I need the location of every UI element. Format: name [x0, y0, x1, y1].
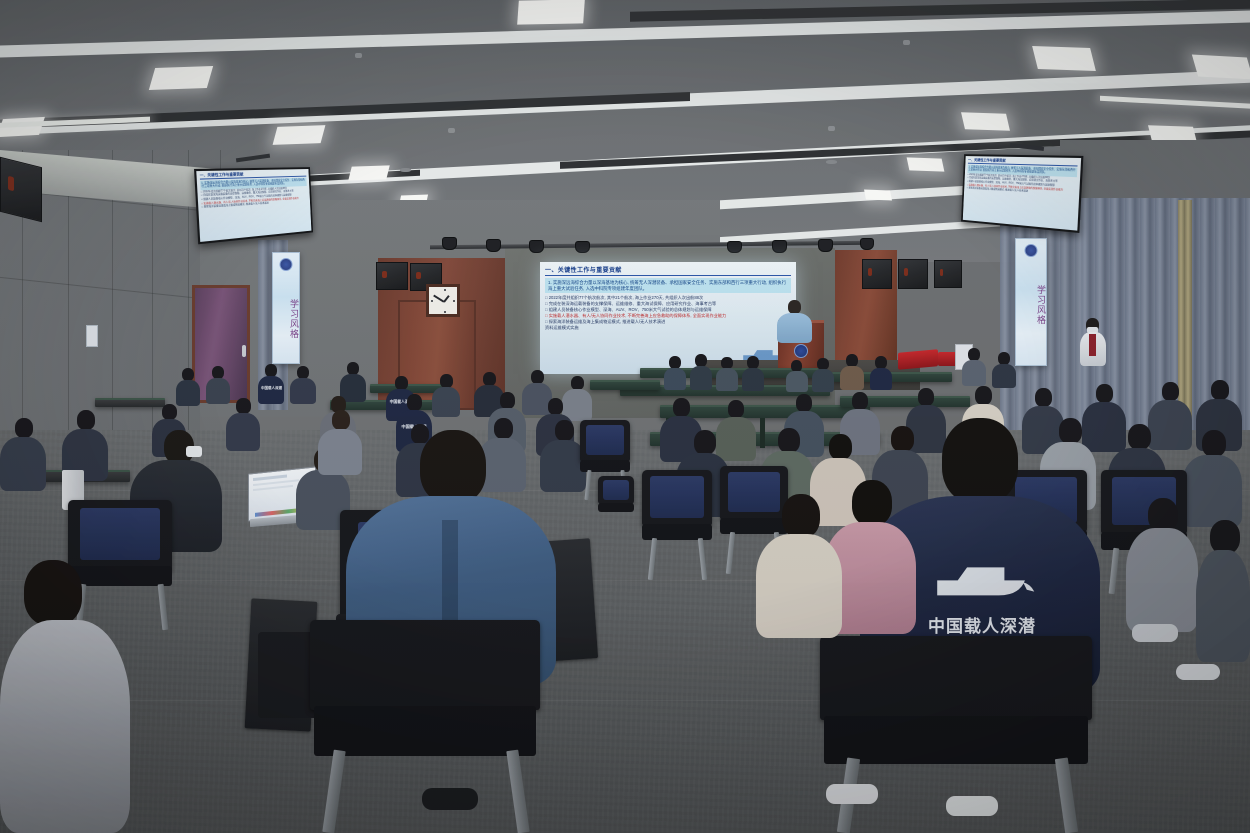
- chair[interactable]: [638, 470, 716, 580]
- left-wall-monitor: 一、关键性工作与重要贡献 1. 实施深远海综合力量以深海基地为核心, 统筹无人深…: [194, 167, 313, 244]
- attendee: [176, 368, 200, 404]
- face-mask: [186, 446, 202, 457]
- stage-light-icon: [529, 240, 544, 253]
- attendee: [840, 354, 864, 388]
- stage-light-icon: [818, 239, 833, 252]
- stage-light-icon: [772, 240, 787, 253]
- attendee: [432, 374, 460, 416]
- red-display-item: [898, 349, 938, 369]
- pa-speaker: [0, 157, 42, 222]
- attendee: [992, 352, 1016, 386]
- pa-speaker: [934, 260, 962, 288]
- attendee: [786, 360, 808, 390]
- banner-left-emblem-icon: [280, 258, 293, 271]
- stage-light-icon: [442, 237, 457, 250]
- right-wall-monitor: 一、关键性工作与重要贡献 1. 实施深远海综合力量以深海基地为核心, 统筹无人深…: [961, 154, 1083, 233]
- attendee: [0, 418, 46, 490]
- chair[interactable]: [596, 476, 636, 536]
- banner-right-emblem-icon: [1025, 244, 1038, 257]
- standing-attendee: [1080, 318, 1106, 378]
- attendee: [226, 398, 260, 450]
- foreground-attendee-left-edge: [0, 560, 130, 833]
- pa-speaker: [898, 259, 928, 289]
- attendee: [742, 356, 764, 389]
- attendee: [1126, 498, 1198, 628]
- attendee: [206, 366, 230, 402]
- shoe: [1132, 624, 1178, 642]
- banner-left: 学习风格: [272, 252, 300, 364]
- pa-speaker: [376, 262, 408, 290]
- attendee: [962, 348, 986, 384]
- lecture-desk: [590, 380, 660, 390]
- banner-right: 学习风格: [1015, 238, 1047, 366]
- jacket-logo-text: 中国载人深潜: [922, 612, 1042, 637]
- attendee: 中国载人深潜: [258, 364, 284, 402]
- podium-emblem-icon: [794, 344, 808, 358]
- banner-left-text: 学习风格: [273, 275, 299, 363]
- wall-clock: [426, 284, 460, 317]
- presenter: [776, 300, 812, 342]
- lanyard: [1089, 334, 1096, 356]
- submersible-logo-icon: [918, 558, 1046, 614]
- attendee: [340, 362, 366, 400]
- slide-bullet: 资料运维模式实施: [545, 325, 791, 331]
- attendee: [290, 366, 316, 402]
- wall-sign: [86, 325, 98, 347]
- slide-highlight: 1. 实施深远海综合力量以深海基地为核心, 统筹无人深潜装备、承担国家安全任务、…: [545, 278, 791, 293]
- pa-speaker: [862, 259, 892, 289]
- attendee: [690, 354, 712, 388]
- slide-title: 一、关键性工作与重要贡献: [545, 265, 791, 276]
- attendee: [1196, 520, 1250, 660]
- shoe: [826, 784, 878, 804]
- attendee: [716, 357, 738, 389]
- shoe: [422, 788, 478, 810]
- stage-light-icon: [860, 238, 874, 250]
- stage-light-icon: [486, 239, 501, 252]
- attendee: [870, 356, 892, 388]
- attendee: [812, 358, 834, 390]
- banner-right-text: 学习风格: [1016, 261, 1046, 349]
- conference-hall-photo: 学习风格 学习风格 一、关键性工作与重要贡献 1. 实施深远海综合力量以深海基地…: [0, 0, 1250, 833]
- stage-light-icon: [575, 241, 590, 253]
- door-handle-icon: [242, 345, 246, 357]
- attendee: [756, 494, 842, 634]
- jacket-logo: 中国载人深潜: [261, 386, 281, 391]
- stage-light-icon: [727, 241, 742, 253]
- attendee: [664, 356, 686, 388]
- shoe: [1176, 664, 1220, 680]
- shoe: [946, 796, 998, 816]
